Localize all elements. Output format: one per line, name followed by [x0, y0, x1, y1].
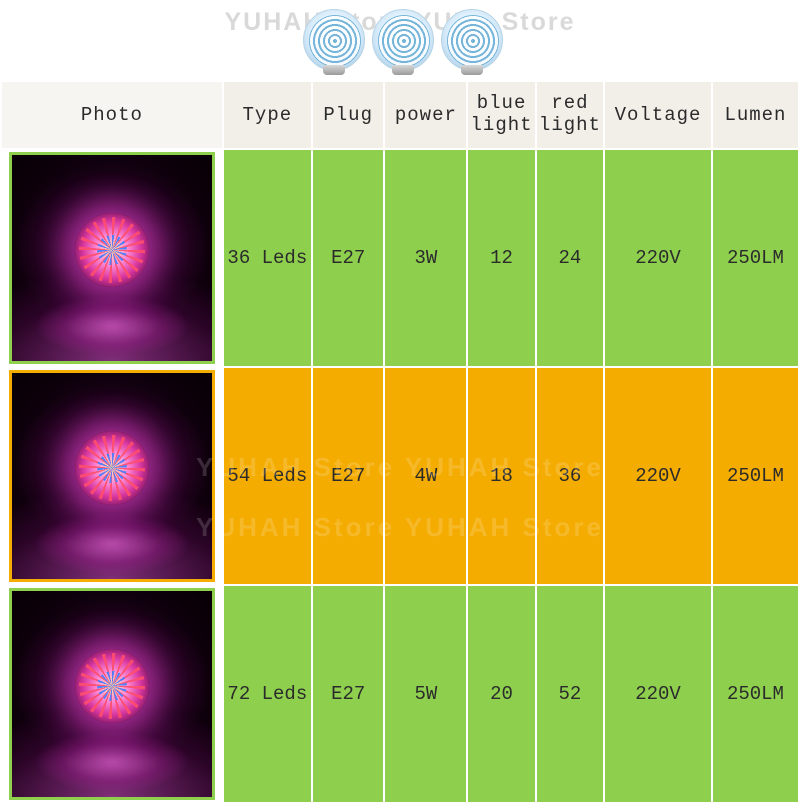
header-row: Photo Type Plug power blue light red lig…: [1, 81, 799, 149]
cell-plug: E27: [312, 149, 385, 367]
header-red-light-line1: red: [537, 93, 603, 115]
cell-type: 54 Leds: [223, 367, 312, 585]
header-blue-light-line2: light: [468, 115, 534, 137]
cell-blue-light: 20: [467, 585, 535, 803]
cell-voltage: 220V: [604, 585, 712, 803]
cell-voltage: 220V: [604, 149, 712, 367]
header-lumen: Lumen: [712, 81, 799, 149]
cell-power: 4W: [384, 367, 467, 585]
grow-light-54-leds-photo: [9, 370, 215, 582]
cell-red-light: 52: [536, 585, 604, 803]
cell-type: 36 Leds: [223, 149, 312, 367]
cell-lumen: 250LM: [712, 585, 799, 803]
cell-photo: [1, 367, 223, 585]
cell-red-light: 24: [536, 149, 604, 367]
cell-plug: E27: [312, 367, 385, 585]
grow-light-72-leds-photo: [9, 588, 215, 800]
header-photo: Photo: [1, 81, 223, 149]
led-bulb-36-icon: [303, 9, 365, 71]
cell-power: 3W: [384, 149, 467, 367]
cell-type: 72 Leds: [223, 585, 312, 803]
header-blue-light: blue light: [467, 81, 535, 149]
header-red-light: red light: [536, 81, 604, 149]
cell-blue-light: 18: [467, 367, 535, 585]
spec-table: Photo Type Plug power blue light red lig…: [0, 80, 800, 804]
cell-lumen: 250LM: [712, 367, 799, 585]
cell-photo: [1, 585, 223, 803]
bulb-photo-strip: [303, 4, 503, 76]
cell-lumen: 250LM: [712, 149, 799, 367]
header-plug: Plug: [312, 81, 385, 149]
table-row: 72 Leds E27 5W 20 52 220V 250LM: [1, 585, 799, 803]
table-row: 54 Leds E27 4W 18 36 220V 250LM: [1, 367, 799, 585]
cell-power: 5W: [384, 585, 467, 803]
cell-red-light: 36: [536, 367, 604, 585]
led-bulb-54-icon: [372, 9, 434, 71]
product-spec-sheet: YUHAH Store YUHA Store Photo Type Plug p…: [0, 0, 800, 800]
cell-voltage: 220V: [604, 367, 712, 585]
cell-plug: E27: [312, 585, 385, 803]
grow-light-36-leds-photo: [9, 152, 215, 364]
header-voltage: Voltage: [604, 81, 712, 149]
header-type: Type: [223, 81, 312, 149]
led-bulb-72-icon: [441, 9, 503, 71]
header-power: power: [384, 81, 467, 149]
table-header: Photo Type Plug power blue light red lig…: [1, 81, 799, 149]
header-blue-light-line1: blue: [468, 93, 534, 115]
cell-blue-light: 12: [467, 149, 535, 367]
table-row: 36 Leds E27 3W 12 24 220V 250LM: [1, 149, 799, 367]
table-body: 36 Leds E27 3W 12 24 220V 250LM 54 Leds …: [1, 149, 799, 803]
top-banner: YUHAH Store YUHA Store: [0, 0, 800, 80]
cell-photo: [1, 149, 223, 367]
header-red-light-line2: light: [537, 115, 603, 137]
